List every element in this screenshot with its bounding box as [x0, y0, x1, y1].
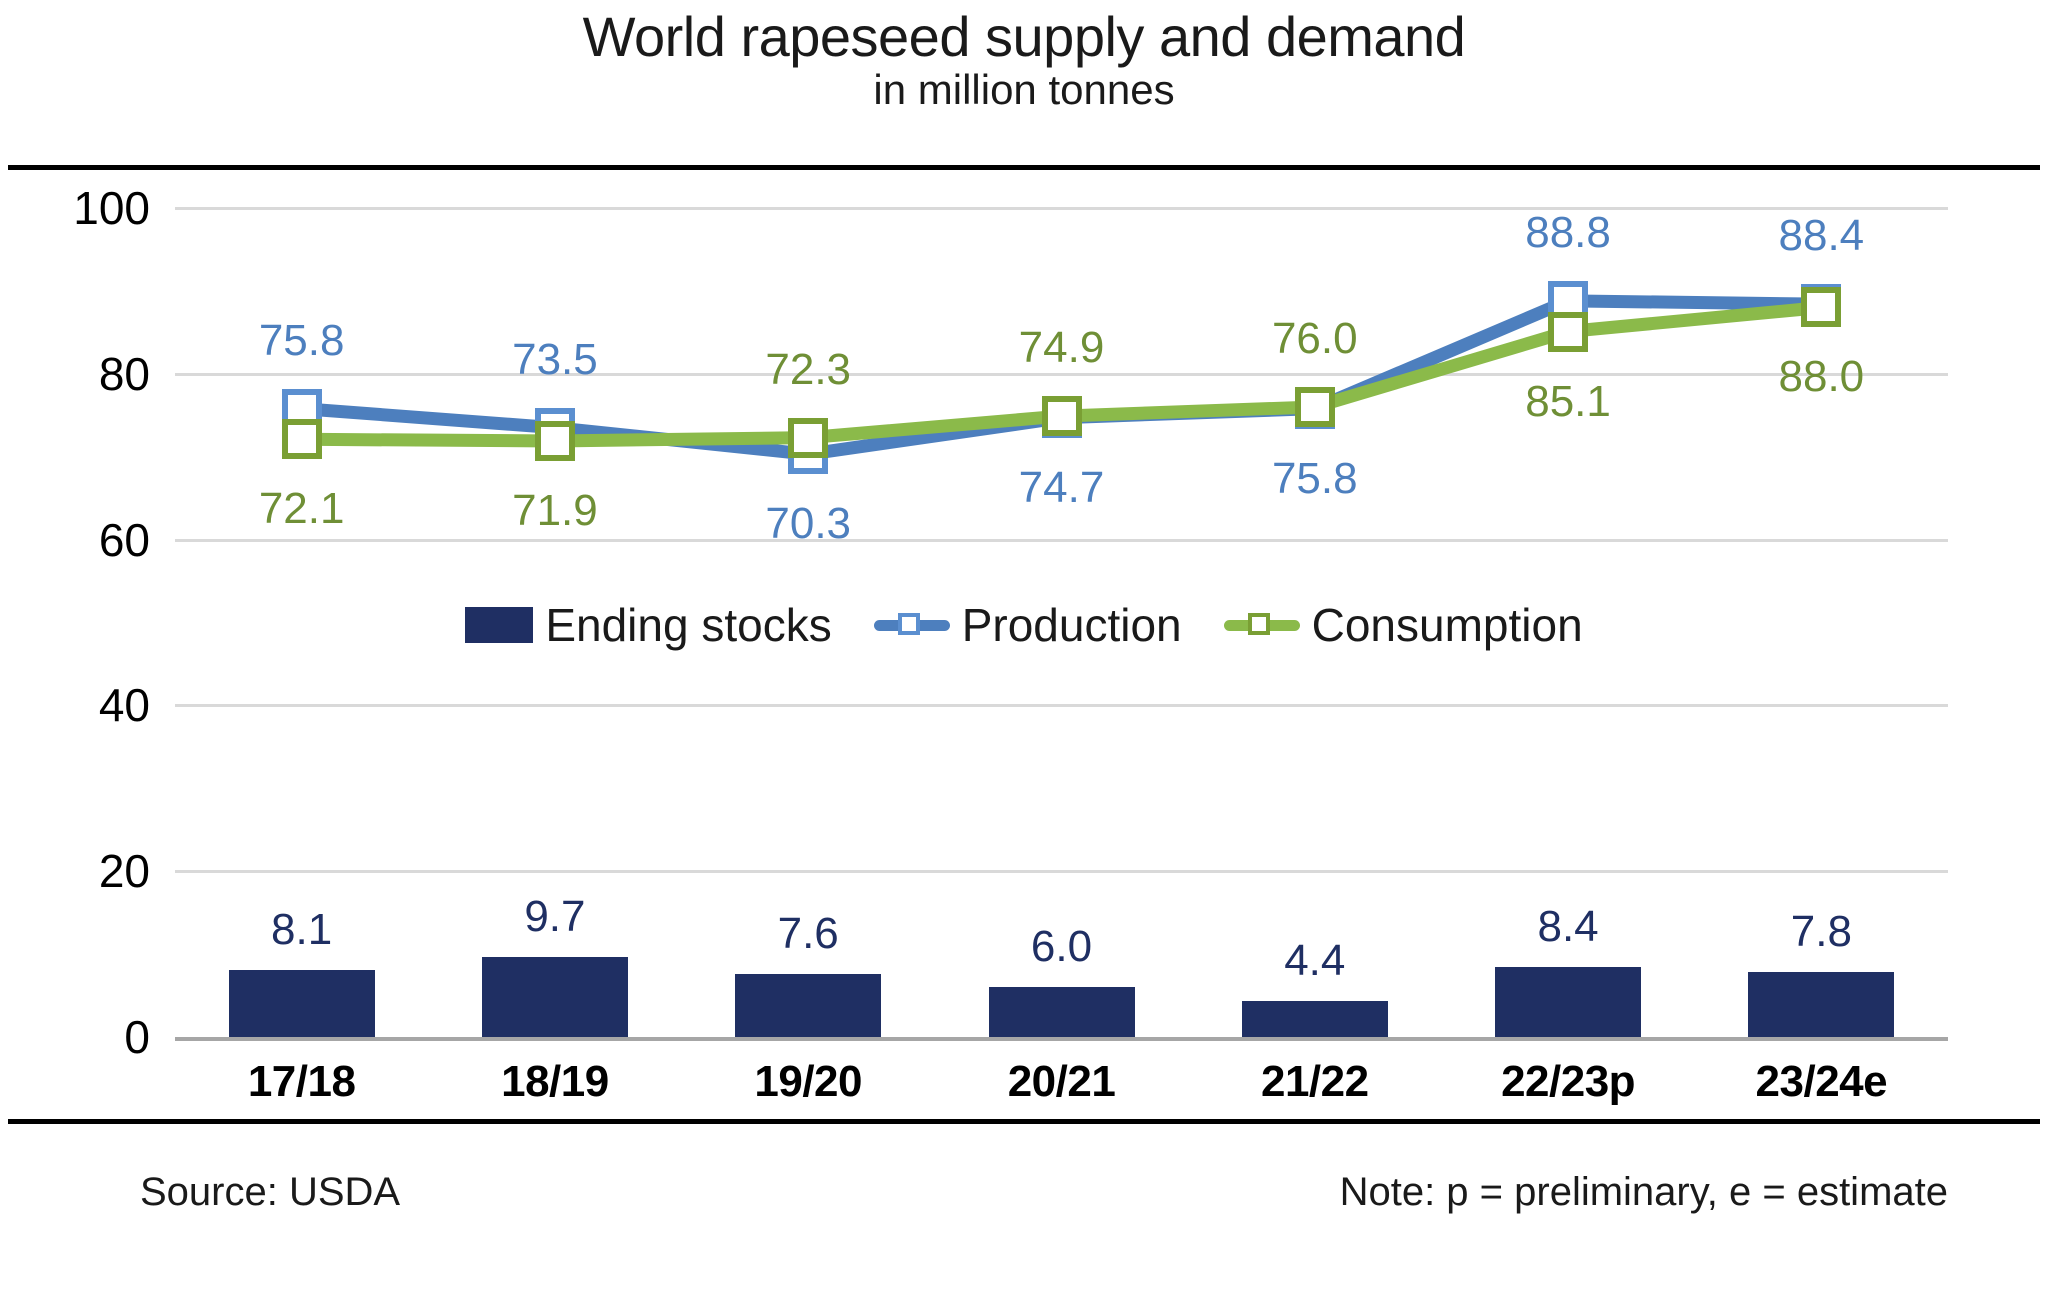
x-axis-tick-label: 19/20 — [678, 1060, 938, 1104]
x-axis-tick-label: 23/24e — [1691, 1060, 1951, 1104]
data-point-value-label: 74.9 — [952, 326, 1172, 370]
data-point-value-label: 72.1 — [192, 487, 412, 531]
data-point-marker[interactable] — [1295, 387, 1335, 427]
x-axis-line — [175, 1037, 1948, 1041]
top-divider — [8, 165, 2040, 170]
y-axis-tick-label: 100 — [10, 185, 150, 231]
bar-value-label: 9.7 — [455, 895, 655, 939]
data-point-value-label: 72.3 — [698, 348, 918, 392]
legend-item-ending-stocks[interactable]: Ending stocks — [465, 602, 831, 648]
data-point-marker[interactable] — [282, 419, 322, 459]
legend-label-production: Production — [962, 602, 1182, 648]
legend-item-consumption[interactable]: Consumption — [1224, 602, 1583, 648]
data-point-value-label: 75.8 — [192, 319, 412, 363]
x-axis-tick-label: 18/19 — [425, 1060, 685, 1104]
bar-value-label: 7.8 — [1721, 910, 1921, 954]
bar-value-label: 8.4 — [1468, 905, 1668, 949]
data-point-value-label: 88.4 — [1711, 214, 1931, 258]
data-point-marker[interactable] — [1801, 287, 1841, 327]
bar-swatch-icon — [465, 607, 533, 643]
title-block: World rapeseed supply and demand in mill… — [0, 8, 2048, 113]
line-square-swatch-icon-production — [874, 607, 950, 643]
x-axis-tick-label: 20/21 — [932, 1060, 1192, 1104]
footer-source: Source: USDA — [140, 1172, 400, 1212]
line-square-swatch-icon-consumption — [1224, 607, 1300, 643]
bar-value-label: 4.4 — [1215, 939, 1415, 983]
x-axis-tick-label: 21/22 — [1185, 1060, 1445, 1104]
footer-note: Note: p = preliminary, e = estimate — [1340, 1172, 1948, 1212]
data-point-marker[interactable] — [788, 418, 828, 458]
data-point-value-label: 74.7 — [952, 466, 1172, 510]
data-point-value-label: 76.0 — [1205, 317, 1425, 361]
bottom-divider — [8, 1119, 2040, 1124]
legend-label-ending-stocks: Ending stocks — [545, 602, 831, 648]
bar-value-label: 7.6 — [708, 912, 908, 956]
bar-value-label: 6.0 — [962, 925, 1162, 969]
chart-subtitle: in million tonnes — [0, 66, 2048, 113]
data-point-value-label: 75.8 — [1205, 457, 1425, 501]
chart-title: World rapeseed supply and demand — [0, 8, 2048, 66]
data-point-marker[interactable] — [1548, 312, 1588, 352]
data-point-marker[interactable] — [1042, 396, 1082, 436]
data-point-value-label: 70.3 — [698, 502, 918, 546]
data-point-value-label: 88.8 — [1458, 211, 1678, 255]
data-point-marker[interactable] — [535, 421, 575, 461]
bar-value-label: 8.1 — [202, 908, 402, 952]
legend-label-consumption: Consumption — [1312, 602, 1583, 648]
y-axis-tick-label: 60 — [10, 517, 150, 563]
data-point-value-label: 71.9 — [445, 489, 665, 533]
y-axis-tick-label: 40 — [10, 682, 150, 728]
chart-legend: Ending stocks Production Consumption — [0, 602, 2048, 648]
data-point-value-label: 73.5 — [445, 338, 665, 382]
data-point-value-label: 85.1 — [1458, 380, 1678, 424]
y-axis-tick-label: 0 — [10, 1014, 150, 1060]
x-axis-tick-label: 17/18 — [172, 1060, 432, 1104]
data-point-value-label: 88.0 — [1711, 355, 1931, 399]
y-axis-tick-label: 20 — [10, 848, 150, 894]
legend-item-production[interactable]: Production — [874, 602, 1182, 648]
y-axis-tick-label: 80 — [10, 351, 150, 397]
x-axis-tick-label: 22/23p — [1438, 1060, 1698, 1104]
